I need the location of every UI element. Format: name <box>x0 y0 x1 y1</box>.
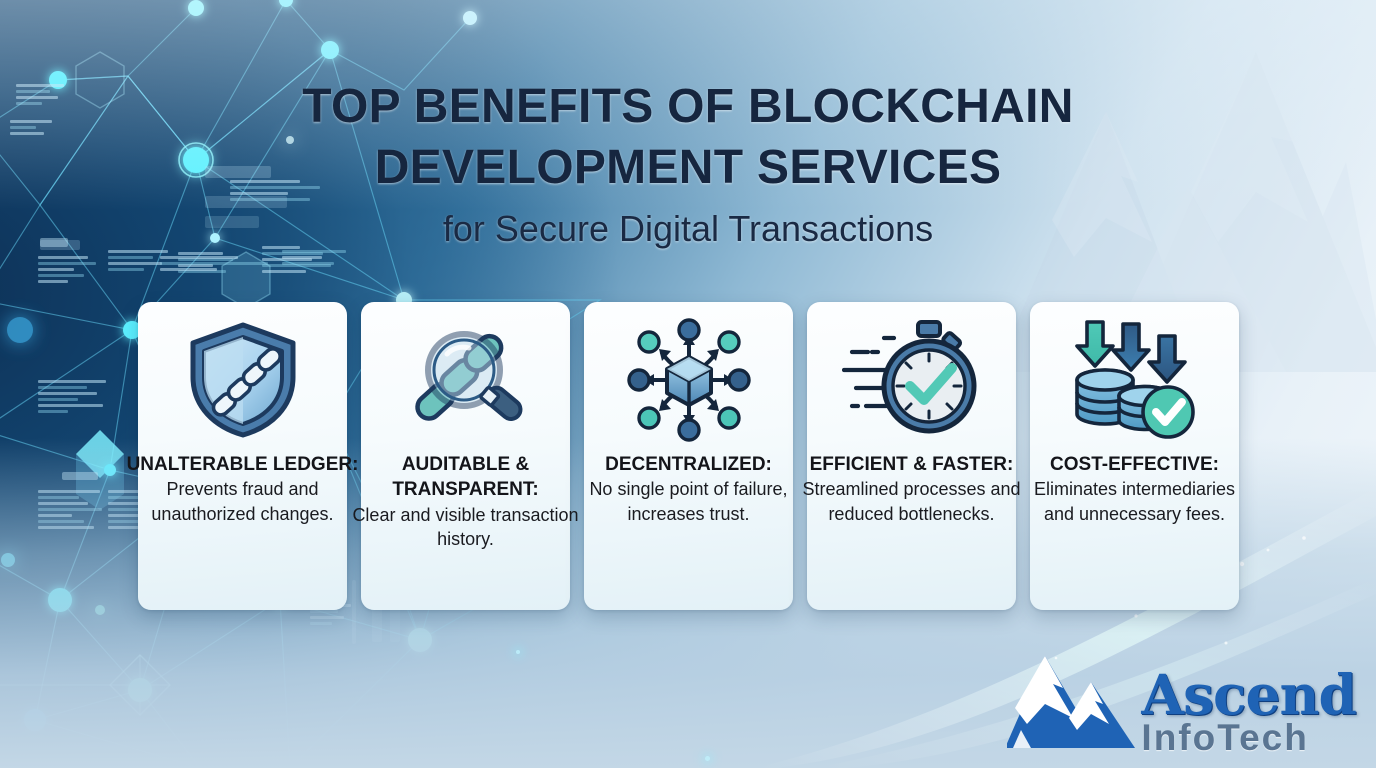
card-title: AUDITABLE & TRANSPARENT: <box>349 452 582 503</box>
card-icon-container <box>584 302 793 450</box>
card-body: Streamlined processes and reduced bottle… <box>795 477 1028 527</box>
card-icon-container <box>361 302 570 450</box>
benefit-card-auditable-transparent[interactable]: AUDITABLE & TRANSPARENT: Clear and visib… <box>361 302 570 610</box>
code-block-decoration <box>38 256 98 286</box>
sparkle-dot <box>516 650 520 654</box>
heading-subtitle: for Secure Digital Transactions <box>0 208 1376 250</box>
logo-name: Ascend <box>1141 667 1356 722</box>
card-title: EFFICIENT & FASTER: <box>795 452 1028 477</box>
sparkle-dot <box>705 756 710 761</box>
decentralized-network-icon <box>626 317 752 443</box>
heading-line-2: DEVELOPMENT SERVICES <box>0 137 1376 198</box>
card-text: COST-EFFECTIVE: Eliminates intermediarie… <box>1018 452 1251 527</box>
card-body: No single point of failure, increases tr… <box>572 477 805 527</box>
brand-logo[interactable]: Ascend InfoTech <box>1007 652 1356 756</box>
card-title: COST-EFFECTIVE: <box>1018 452 1251 477</box>
card-text: UNALTERABLE LEDGER: Prevents fraud and u… <box>126 452 359 527</box>
code-block-decoration <box>38 380 114 416</box>
benefit-card-efficient-faster[interactable]: EFFICIENT & FASTER: Streamlined processe… <box>807 302 1016 610</box>
benefit-card-decentralized[interactable]: DECENTRALIZED: No single point of failur… <box>584 302 793 610</box>
page-heading: TOP BENEFITS OF BLOCKCHAIN DEVELOPMENT S… <box>0 76 1376 250</box>
heading-line-1: TOP BENEFITS OF BLOCKCHAIN <box>0 76 1376 137</box>
card-title: DECENTRALIZED: <box>572 452 805 477</box>
logo-wordmark: Ascend InfoTech <box>1141 667 1356 756</box>
card-icon-container <box>1030 302 1239 450</box>
benefit-card-list: UNALTERABLE LEDGER: Prevents fraud and u… <box>138 302 1240 610</box>
benefit-card-unalterable-ledger[interactable]: UNALTERABLE LEDGER: Prevents fraud and u… <box>138 302 347 610</box>
card-text: DECENTRALIZED: No single point of failur… <box>572 452 805 527</box>
infographic-canvas: TOP BENEFITS OF BLOCKCHAIN DEVELOPMENT S… <box>0 0 1376 768</box>
card-icon-container <box>138 302 347 450</box>
card-text: EFFICIENT & FASTER: Streamlined processe… <box>795 452 1028 527</box>
shield-chain-icon <box>183 319 303 441</box>
magnifier-chain-icon <box>399 320 533 440</box>
code-block-decoration <box>282 250 356 268</box>
card-title: UNALTERABLE LEDGER: <box>126 452 359 477</box>
stopwatch-check-icon <box>842 318 982 442</box>
benefit-card-cost-effective[interactable]: COST-EFFECTIVE: Eliminates intermediarie… <box>1030 302 1239 610</box>
coins-arrows-check-icon <box>1069 318 1201 442</box>
logo-tagline: InfoTech <box>1141 719 1308 756</box>
card-icon-container <box>807 302 1016 450</box>
mountain-icon <box>1007 652 1135 756</box>
card-body: Prevents fraud and unauthorized changes. <box>126 477 359 527</box>
card-body: Clear and visible transaction history. <box>349 503 582 553</box>
card-body: Eliminates intermediaries and unnecessar… <box>1018 477 1251 527</box>
card-text: AUDITABLE & TRANSPARENT: Clear and visib… <box>349 452 582 552</box>
